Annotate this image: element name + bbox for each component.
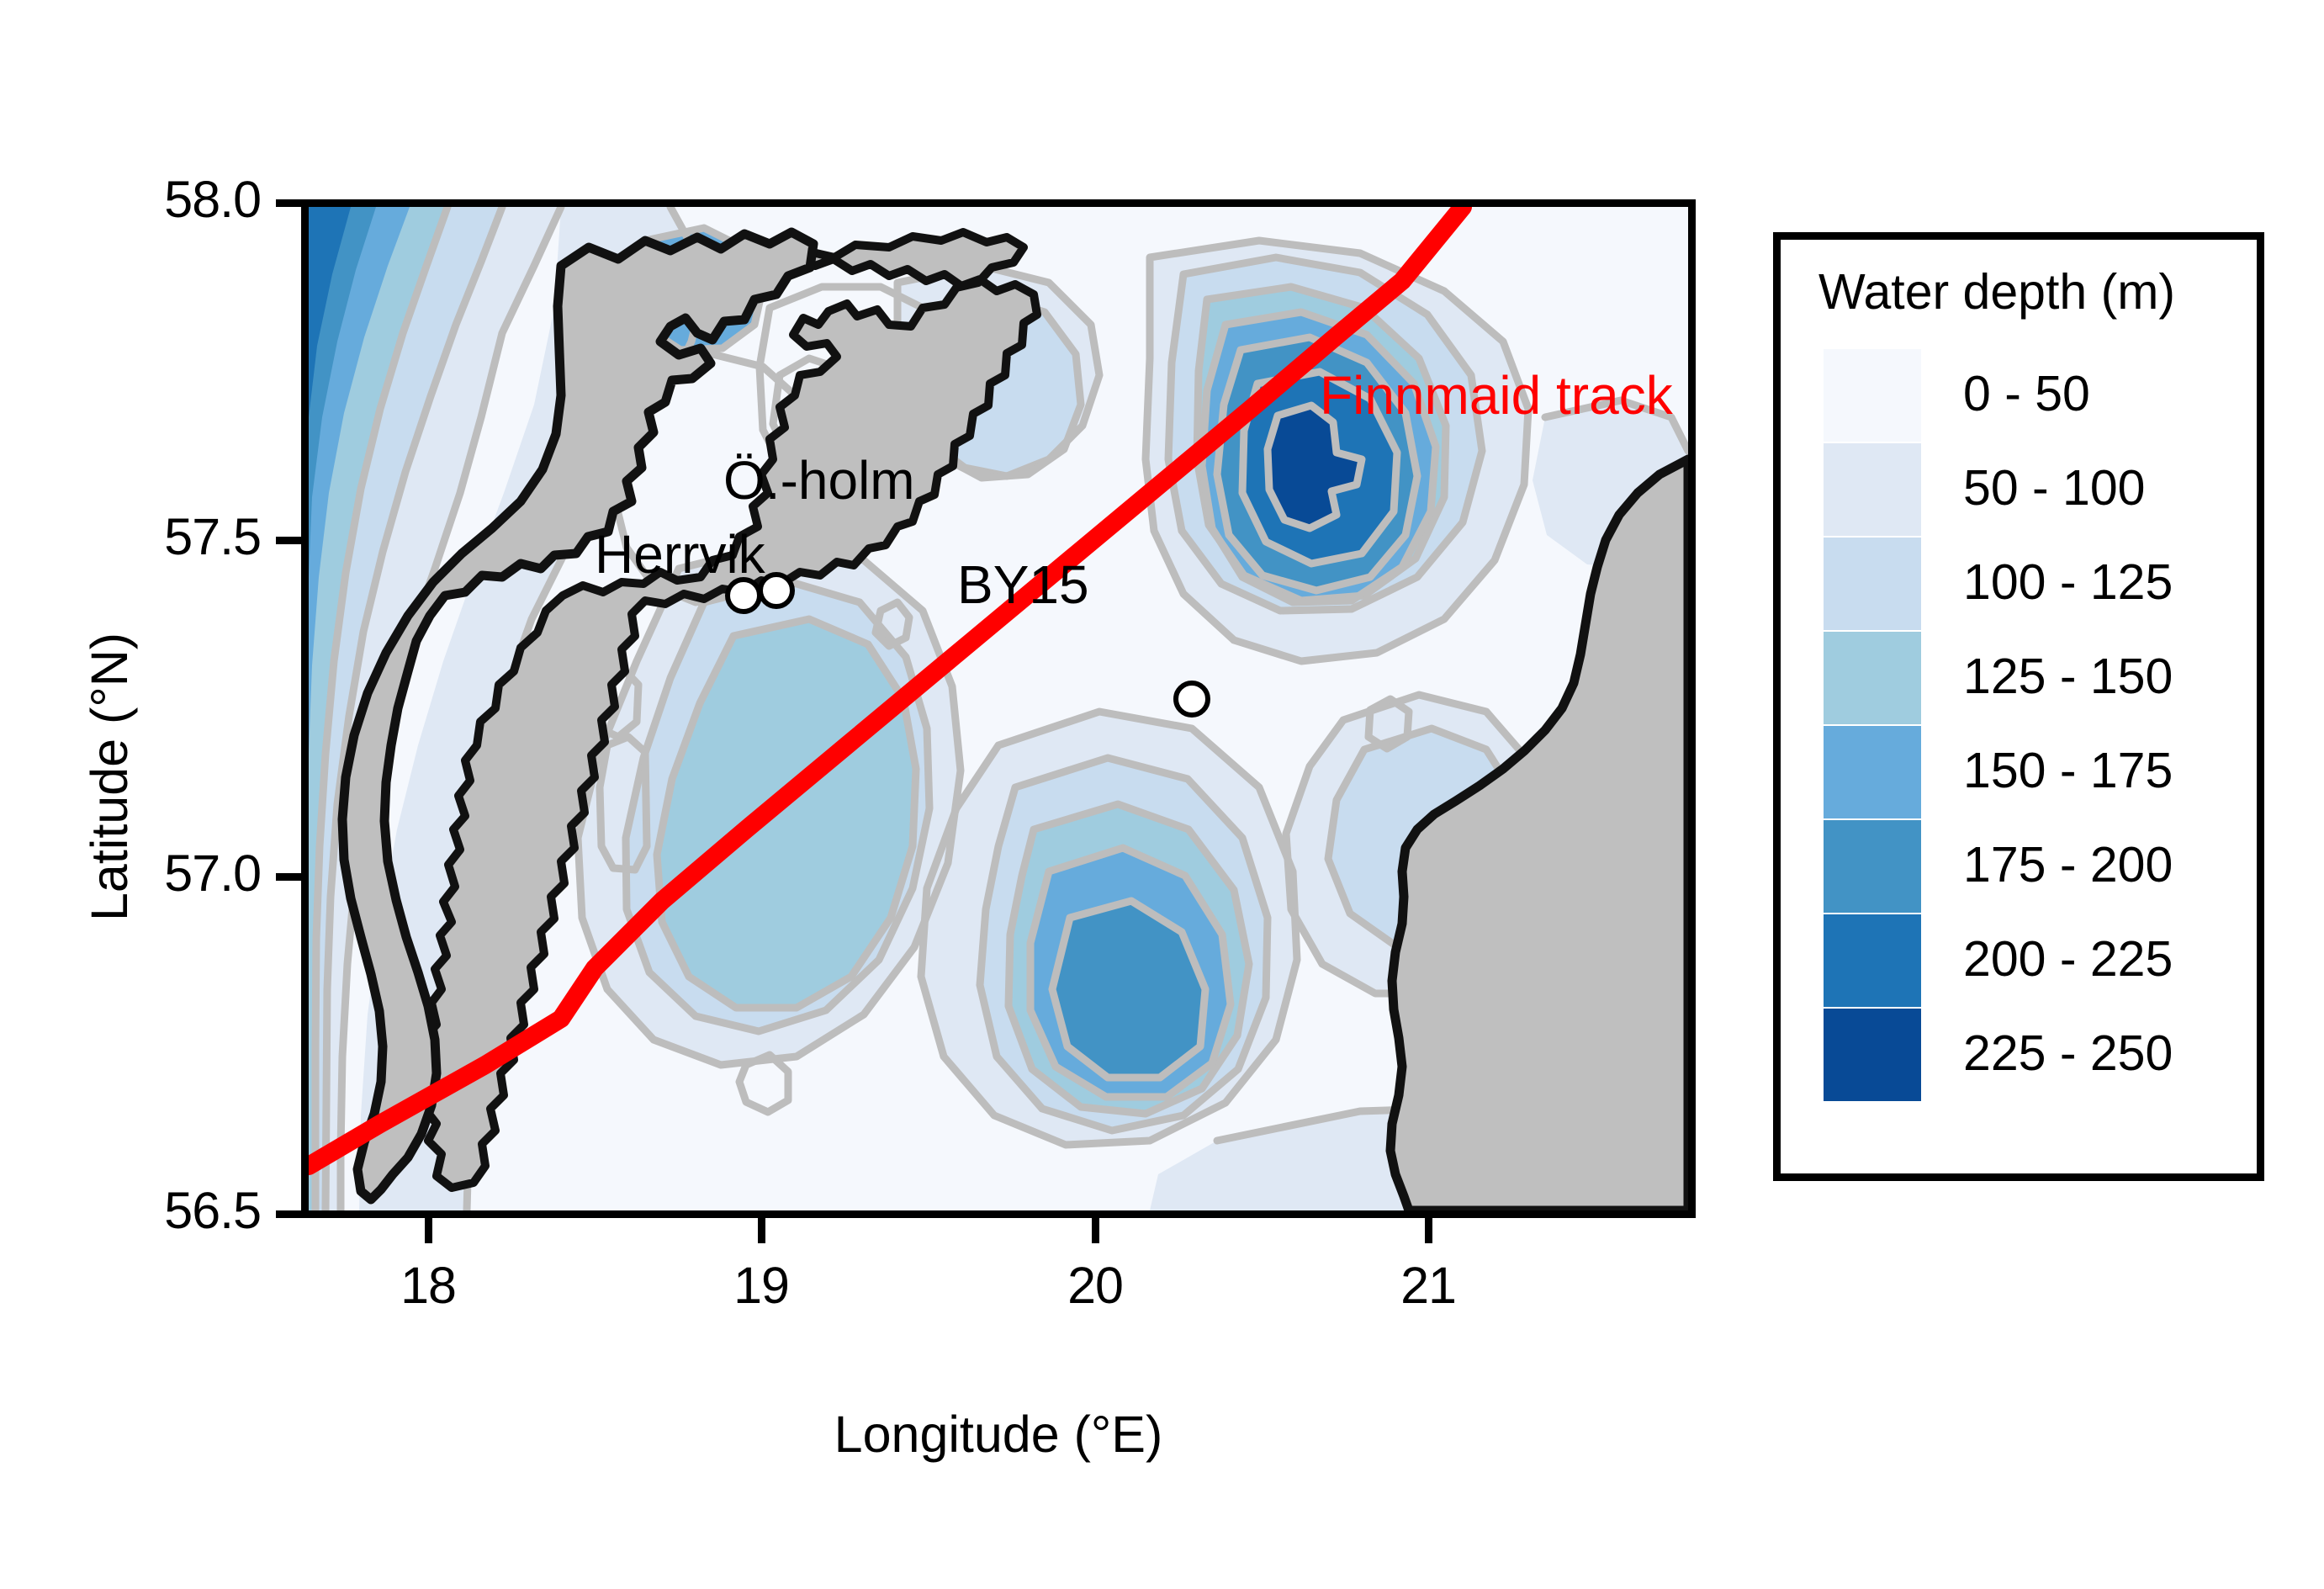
y-tick-56-5 — [276, 1210, 301, 1218]
x-tick-label-19: 19 — [660, 1260, 862, 1311]
x-tick-18 — [425, 1218, 432, 1243]
legend-label-100-125: 100 - 125 — [1963, 556, 2173, 608]
legend-swatch-125-150 — [1824, 632, 1921, 724]
herrvik-label: Herrvik — [595, 527, 765, 581]
y-tick-58-0 — [276, 199, 301, 207]
x-tick-20 — [1092, 1218, 1099, 1243]
x-tick-19 — [758, 1218, 765, 1243]
legend-row-225-250[interactable]: 225 - 250 — [1824, 1009, 2219, 1103]
legend-label-0-50: 0 - 50 — [1963, 368, 2090, 420]
legend-swatch-0-50 — [1824, 349, 1921, 442]
legend-label-200-225: 200 - 225 — [1963, 933, 2173, 985]
oholm-label: Ö.-holm — [723, 453, 915, 507]
legend-swatch-200-225 — [1824, 914, 1921, 1007]
legend-swatch-175-200 — [1824, 820, 1921, 913]
legend-label-50-100: 50 - 100 — [1963, 462, 2146, 514]
by15-station-marker[interactable] — [1176, 683, 1208, 715]
map-plot-area[interactable]: Finnmaid track Ö.-holm Herrvik BY15 — [301, 199, 1696, 1218]
legend-swatch-225-250 — [1824, 1009, 1921, 1101]
x-axis-title: Longitude (°E) — [301, 1405, 1696, 1464]
x-tick-label-18: 18 — [327, 1260, 529, 1311]
figure-root: Finnmaid track Ö.-holm Herrvik BY15 58.0… — [0, 0, 2324, 1589]
legend-label-225-250: 225 - 250 — [1963, 1027, 2173, 1079]
y-tick-57-5 — [276, 537, 301, 544]
legend-row-200-225[interactable]: 200 - 225 — [1824, 914, 2219, 1009]
legend-row-100-125[interactable]: 100 - 125 — [1824, 538, 2219, 632]
legend-row-125-150[interactable]: 125 - 150 — [1824, 632, 2219, 726]
legend-row-150-175[interactable]: 150 - 175 — [1824, 726, 2219, 820]
y-axis-title: Latitude (°N) — [80, 633, 139, 921]
legend-label-175-200: 175 - 200 — [1963, 839, 2173, 891]
y-tick-label-56-5: 56.5 — [59, 1185, 261, 1237]
legend-label-150-175: 150 - 175 — [1963, 744, 2173, 797]
legend-row-50-100[interactable]: 50 - 100 — [1824, 443, 2219, 538]
legend-label-125-150: 125 - 150 — [1963, 650, 2173, 702]
x-tick-label-20: 20 — [994, 1260, 1196, 1311]
legend-title: Water depth (m) — [1818, 267, 2175, 317]
y-tick-57-0 — [276, 873, 301, 881]
legend-row-0-50[interactable]: 0 - 50 — [1824, 349, 2219, 443]
x-tick-21 — [1425, 1218, 1432, 1243]
legend-swatch-100-125 — [1824, 538, 1921, 630]
finnmaid-track-label: Finnmaid track — [1320, 368, 1673, 422]
legend-row-175-200[interactable]: 175 - 200 — [1824, 820, 2219, 914]
by15-label: BY15 — [957, 558, 1089, 612]
legend-box: Water depth (m) 0 - 50 50 - 100 100 - 12… — [1773, 232, 2264, 1181]
y-tick-label-58-0: 58.0 — [59, 174, 261, 225]
legend-swatch-50-100 — [1824, 443, 1921, 536]
bathymetry-map-svg — [309, 207, 1688, 1210]
legend-swatch-150-175 — [1824, 726, 1921, 818]
y-tick-label-57-5: 57.5 — [59, 511, 261, 563]
x-tick-label-21: 21 — [1327, 1260, 1529, 1311]
